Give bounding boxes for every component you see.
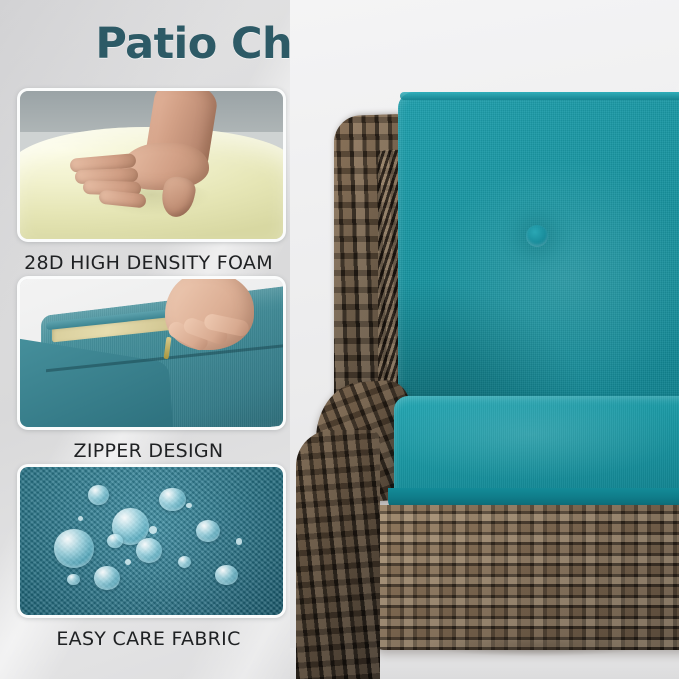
product-infographic: Patio Chair Cushions 28D HIGH DENSITY FO… (0, 0, 679, 679)
feature-card-high-density-foam: 28D HIGH DENSITY FOAM (17, 88, 280, 275)
feature-image-zipper-design (17, 276, 286, 430)
hero-product-image (290, 0, 679, 679)
water-bead (54, 529, 93, 567)
water-bead (94, 566, 120, 590)
feature-caption-high-density-foam: 28D HIGH DENSITY FOAM (17, 251, 280, 275)
wicker-base (374, 505, 679, 650)
water-bead (178, 556, 191, 568)
tufted-button (526, 225, 548, 247)
water-bead (136, 538, 162, 563)
water-bead (159, 488, 185, 512)
feature-card-zipper-design: ZIPPER DESIGN (17, 276, 280, 463)
feature-caption-zipper-design: ZIPPER DESIGN (17, 439, 280, 463)
cushion-piping (400, 92, 679, 100)
wicker-arm-side-panel (296, 430, 380, 679)
feature-image-easy-care-fabric (17, 464, 286, 618)
water-droplet (149, 526, 157, 533)
floor-shadow (386, 636, 679, 660)
water-bead (107, 534, 123, 549)
feature-caption-easy-care-fabric: EASY CARE FABRIC (17, 627, 280, 651)
water-droplet (236, 538, 243, 545)
feature-image-high-density-foam (17, 88, 286, 242)
water-droplet (78, 516, 83, 521)
feature-card-easy-care-fabric: EASY CARE FABRIC (17, 464, 280, 651)
